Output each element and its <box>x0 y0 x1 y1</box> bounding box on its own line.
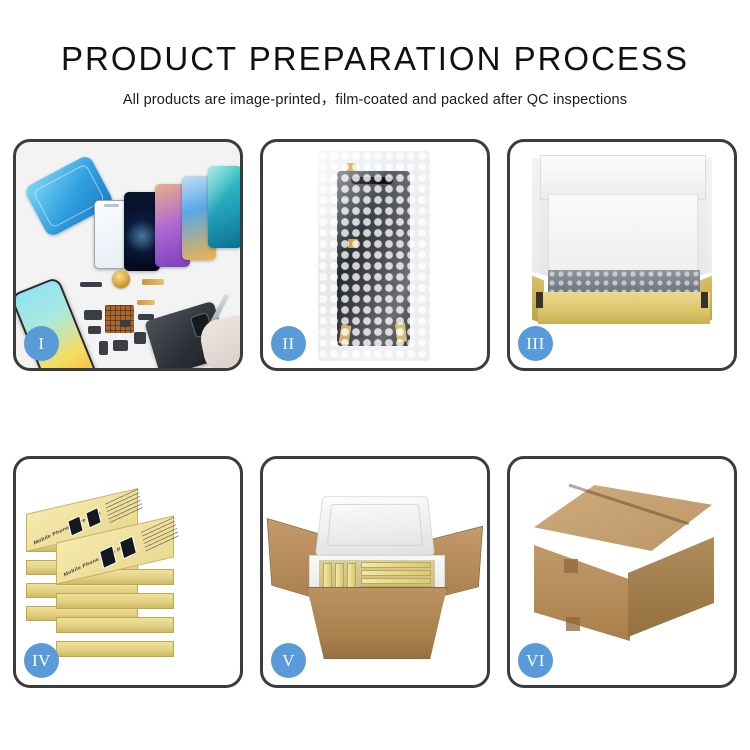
box-corner-graphic <box>701 292 708 308</box>
page-title: PRODUCT PREPARATION PROCESS <box>0 42 750 77</box>
carton-tape-graphic <box>566 617 580 631</box>
box-interior-graphic <box>548 194 698 272</box>
process-step-panel-5: V <box>260 456 490 688</box>
component-graphic <box>99 341 108 355</box>
box-corner-graphic <box>536 292 543 308</box>
chip-array-graphic <box>105 305 134 333</box>
packed-box <box>323 563 332 591</box>
page-subtitle: All products are image-printed，film-coat… <box>0 88 750 109</box>
step-badge-3: III <box>518 326 553 361</box>
box-stack-graphic: Mobile Phone Spare Parts Mobile Phone Sp… <box>24 485 234 663</box>
component-graphic <box>88 326 101 334</box>
step-badge-1: I <box>24 326 59 361</box>
teal-display-graphic <box>208 166 240 248</box>
stacked-box <box>56 617 174 633</box>
component-graphic <box>134 332 146 344</box>
step-badge-6: VI <box>518 643 553 678</box>
stacked-box <box>56 593 174 609</box>
carton-left-face-graphic <box>534 545 630 641</box>
process-step-panel-3: III <box>507 139 737 371</box>
step-badge-2: II <box>271 326 306 361</box>
component-graphic <box>120 320 130 327</box>
box-artwork-text-lines <box>105 489 143 525</box>
process-step-panel-4: Mobile Phone Spare Parts Mobile Phone Sp… <box>13 456 243 688</box>
packed-box <box>361 562 431 568</box>
outer-carton-graphic <box>307 587 447 659</box>
foam-lid-graphic <box>315 496 435 555</box>
carton-top-face-graphic <box>534 485 712 551</box>
header: PRODUCT PREPARATION PROCESS All products… <box>0 0 750 109</box>
process-step-grid: I II <box>13 139 737 688</box>
step-badge-4: IV <box>24 643 59 678</box>
box-artwork-text-lines <box>141 517 179 553</box>
stacked-box <box>56 641 174 657</box>
flex-cable-graphic <box>142 279 164 285</box>
plastic-sheen <box>318 151 430 361</box>
packed-box <box>335 563 344 591</box>
flex-cable-graphic <box>137 300 155 305</box>
vibration-motor-graphic <box>112 270 130 288</box>
packed-box <box>361 578 431 584</box>
box-front-graphic <box>538 292 710 324</box>
packed-box <box>361 570 431 576</box>
box-artwork-screen <box>119 536 137 560</box>
carton-tape-graphic <box>564 559 578 573</box>
step-badge-5: V <box>271 643 306 678</box>
process-step-panel-1: I <box>13 139 243 371</box>
carton-right-face-graphic <box>628 537 714 637</box>
bubble-wrapped-contents-graphic <box>548 270 700 294</box>
process-step-panel-6: VI <box>507 456 737 688</box>
component-graphic <box>138 314 154 320</box>
clear-glass-panel-graphic <box>94 200 127 269</box>
bubble-wrap-bag-graphic <box>318 151 430 361</box>
component-graphic <box>84 310 102 320</box>
process-step-panel-2: II <box>260 139 490 371</box>
component-graphic <box>80 282 102 287</box>
component-graphic <box>113 340 128 351</box>
packed-box <box>347 563 356 591</box>
infographic-page: PRODUCT PREPARATION PROCESS All products… <box>0 0 750 750</box>
